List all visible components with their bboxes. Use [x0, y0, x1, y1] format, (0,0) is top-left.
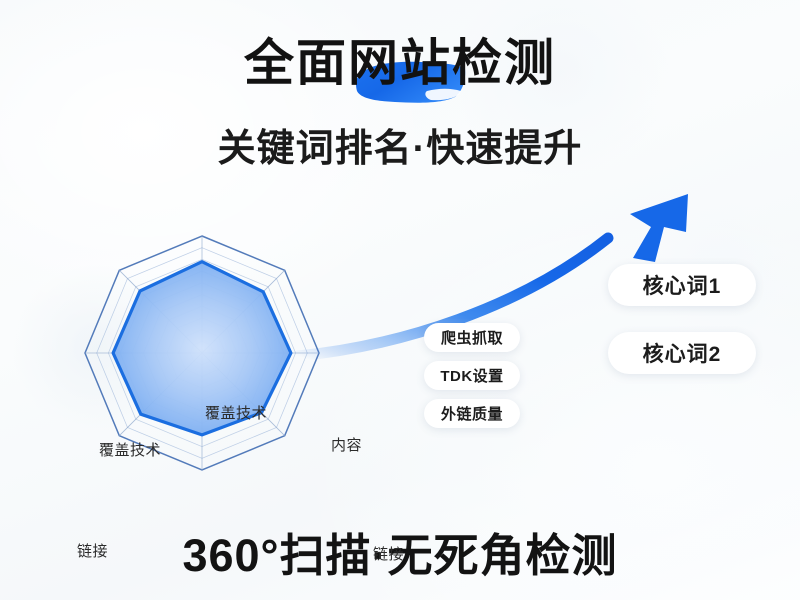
radar-chart-svg	[32, 196, 377, 516]
radar-axis-label-7: 覆盖技术	[99, 439, 161, 460]
radar-axis-label-2: 链接	[373, 543, 404, 564]
radar-axis-label-0: 覆盖技术	[205, 402, 267, 423]
page-title: 全面网站检测	[244, 36, 556, 91]
subtitle-block: 关键词排名·快速提升	[0, 117, 800, 172]
check-pill-tdk[interactable]: TDK设置	[424, 361, 520, 390]
keyword-pill-core-1[interactable]: 核心词1	[608, 264, 756, 306]
radar-axis-label-1: 内容	[331, 434, 362, 455]
check-pill-links[interactable]: 外链质量	[424, 399, 520, 428]
keyword-pill-core-2[interactable]: 核心词2	[608, 332, 756, 374]
check-pill-crawl[interactable]: 爬虫抓取	[424, 323, 520, 352]
radar-chart: 覆盖技术内容链接义急检链用能技广用户体验链接覆盖技术	[32, 196, 377, 516]
poster-canvas: 全面网站检测 关键词排名·快速提升 360°扫描·无死角检测	[0, 0, 800, 600]
page-subtitle: 关键词排名·快速提升	[218, 117, 583, 172]
title-block: 全面网站检测	[0, 36, 800, 91]
radar-axis-label-6: 链接	[77, 540, 108, 561]
